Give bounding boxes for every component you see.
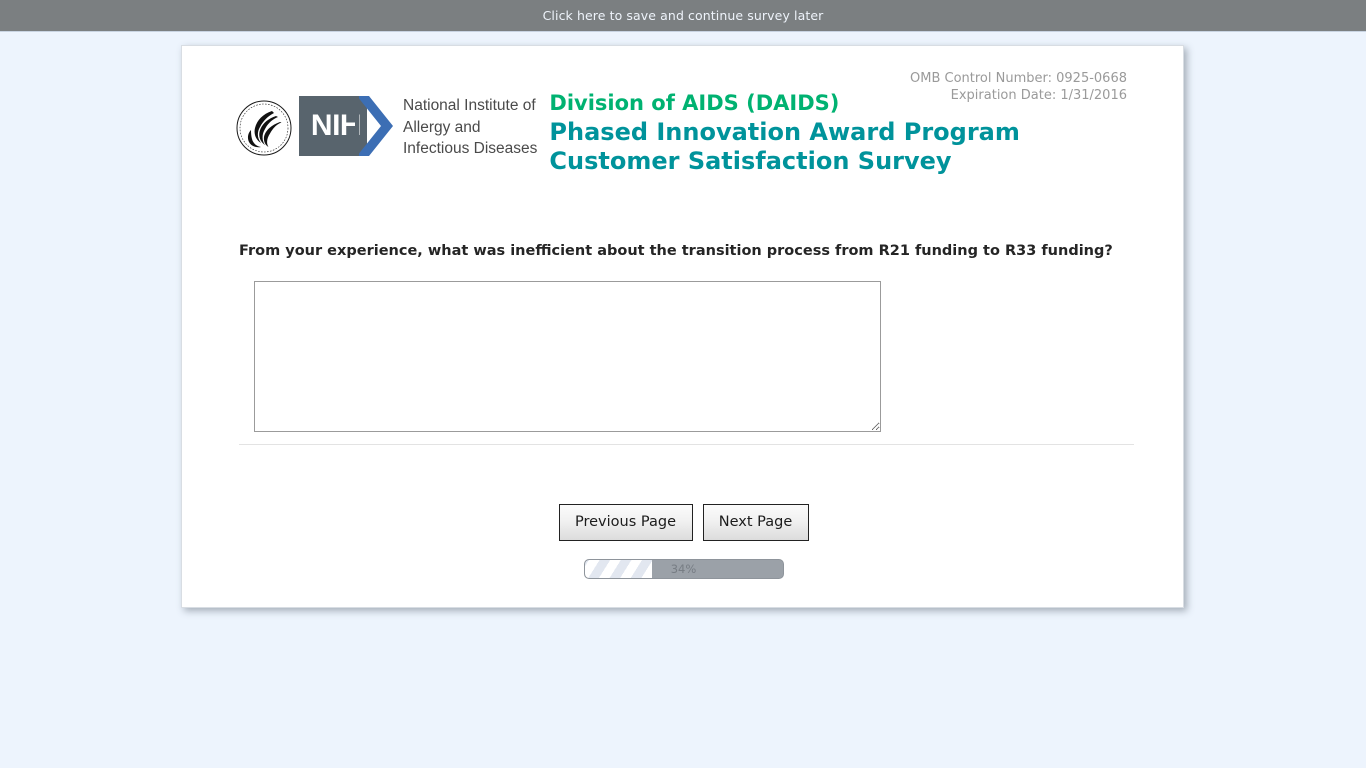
survey-title-name: Customer Satisfaction Survey [549, 147, 1019, 176]
navigation-buttons: Previous Page Next Page [182, 504, 1185, 541]
question-label: From your experience, what was inefficie… [239, 243, 1113, 259]
niaid-wordmark: National Institute of Allergy and Infect… [403, 95, 537, 160]
agency-line-1: National Institute of [403, 95, 537, 117]
survey-title-block: Division of AIDS (DAIDS) Phased Innovati… [549, 89, 1019, 176]
survey-progress-bar: 34% [584, 559, 784, 579]
survey-title-division: Division of AIDS (DAIDS) [549, 89, 1019, 118]
hhs-seal-icon [234, 97, 294, 159]
answer-textarea[interactable] [254, 281, 881, 432]
previous-page-button[interactable]: Previous Page [559, 504, 693, 541]
save-and-continue-link[interactable]: Click here to save and continue survey l… [543, 8, 824, 23]
survey-title-program: Phased Innovation Award Program [549, 118, 1019, 147]
save-and-continue-bar[interactable]: Click here to save and continue survey l… [0, 0, 1366, 32]
survey-card: OMB Control Number: 0925-0668 Expiration… [181, 45, 1184, 608]
progress-bar-wrapper: 34% [182, 559, 1185, 579]
agency-line-3: Infectious Diseases [403, 138, 537, 160]
progress-percent-label: 34% [585, 560, 783, 578]
section-divider [239, 444, 1134, 445]
omb-control-number: OMB Control Number: 0925-0668 [910, 70, 1127, 87]
next-page-button[interactable]: Next Page [703, 504, 809, 541]
nih-logo-mark: NIH [299, 96, 394, 156]
survey-header: NIH National Institute of Allergy and In… [234, 86, 1020, 176]
nih-chevron-icon [355, 96, 395, 156]
agency-line-2: Allergy and [403, 117, 537, 139]
